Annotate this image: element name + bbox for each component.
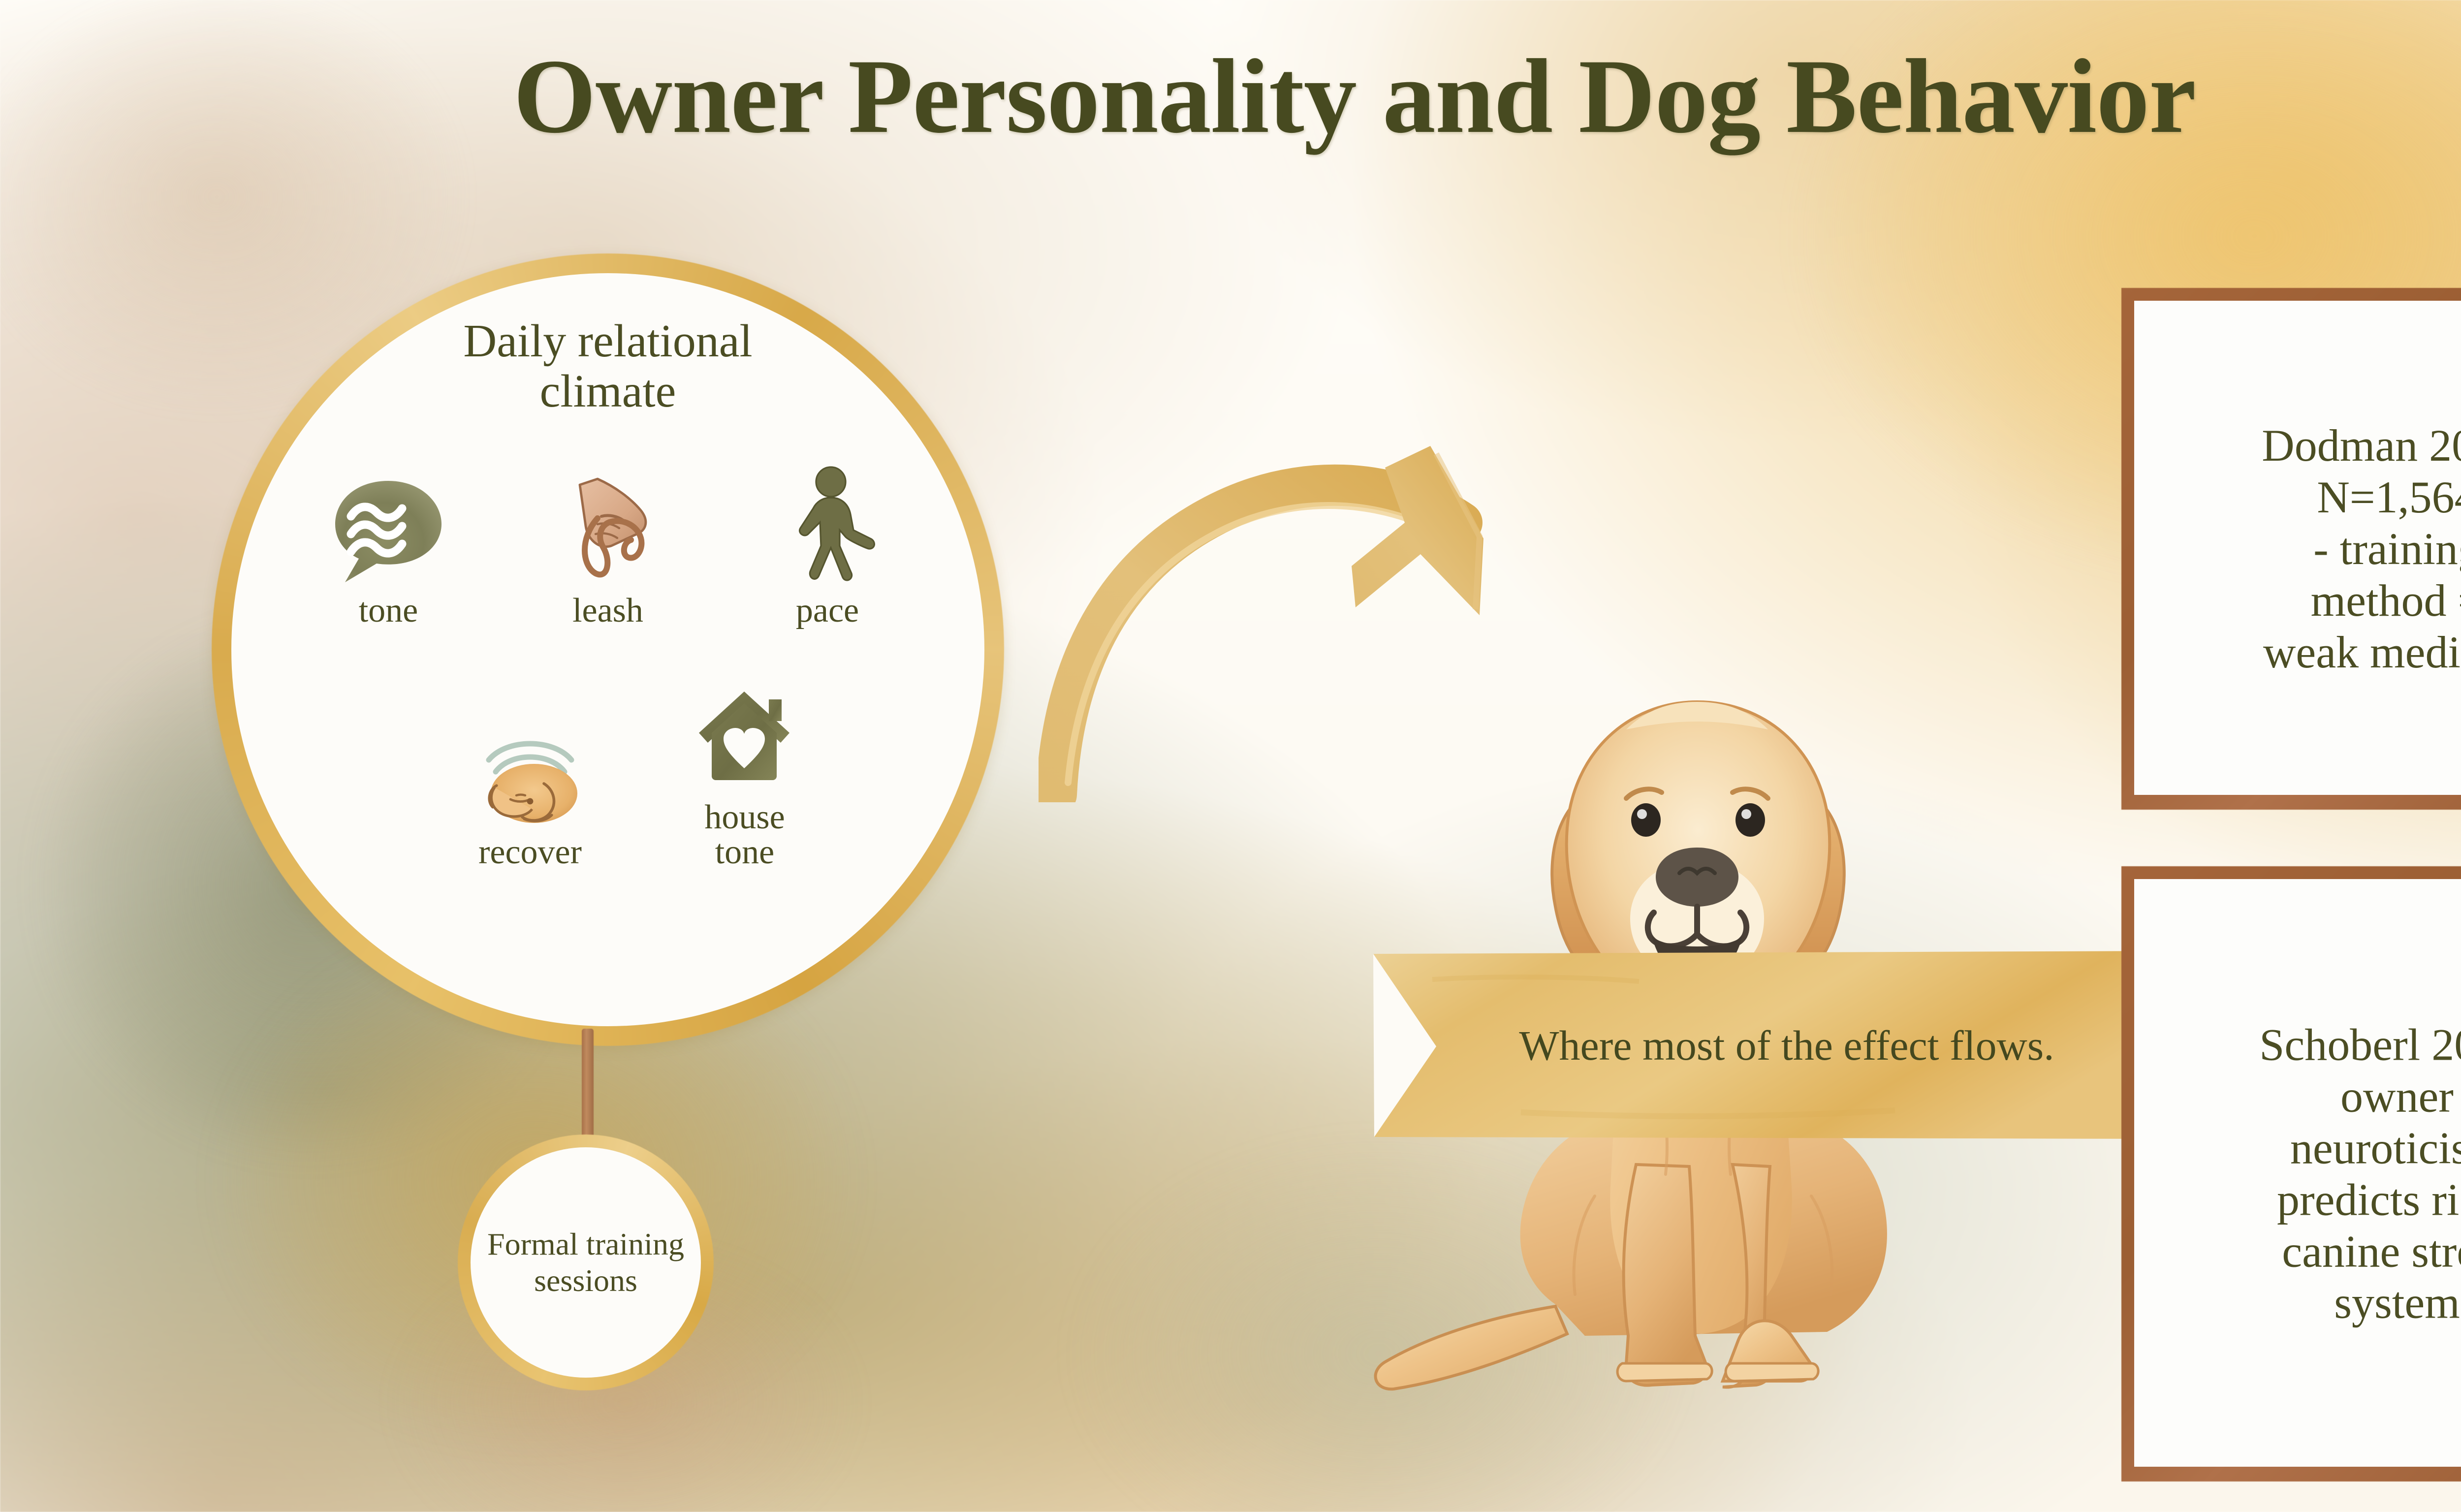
- circle-icon-row-top: tone: [212, 465, 1004, 628]
- note-line: canine stress: [2133, 1226, 2461, 1277]
- infographic-canvas: Owner Personality and Dog Behavior Daily…: [0, 0, 2461, 1512]
- walking-person-icon: [776, 465, 879, 588]
- note-card-schoberl: Schoberl 2017: owner neuroticism predict…: [2121, 866, 2461, 1481]
- icon-cell-house-tone: house tone: [673, 672, 816, 870]
- note-card-dodman: Dodman 2018: N=1,564 - training method =…: [2121, 288, 2461, 810]
- icon-cell-pace: pace: [754, 465, 901, 628]
- house-with-heart-icon: [688, 672, 801, 795]
- note-line: predicts rigid: [2133, 1174, 2461, 1226]
- icon-label-pace: pace: [796, 593, 859, 628]
- icon-label-tone: tone: [359, 593, 418, 628]
- circle-heading: Daily relational climate: [441, 316, 775, 416]
- note-card-dodman-text: Dodman 2018: N=1,564 - training method =…: [2133, 420, 2461, 678]
- note-line: Dodman 2018:: [2133, 420, 2461, 472]
- note-line: Schoberl 2017:: [2133, 1019, 2461, 1071]
- daily-relational-climate-circle: Daily relational climate: [212, 253, 1004, 1046]
- icon-cell-tone: tone: [315, 465, 462, 628]
- note-line: - training: [2133, 523, 2461, 575]
- icon-label-leash: leash: [572, 593, 643, 628]
- icon-cell-leash: leash: [534, 465, 682, 628]
- banner-text: Where most of the effect flows.: [1432, 1021, 2141, 1071]
- note-line: system: [2133, 1277, 2461, 1329]
- formal-training-sessions-circle: Formal training sessions: [458, 1134, 714, 1390]
- circle-connector-stem: [582, 1029, 594, 1149]
- page-title: Owner Personality and Dog Behavior: [0, 43, 2461, 150]
- effect-flow-banner: Where most of the effect flows.: [1373, 950, 2176, 1142]
- speech-bubble-waves-icon: [329, 465, 447, 588]
- note-line: N=1,564: [2133, 472, 2461, 523]
- note-line: method =: [2133, 574, 2461, 626]
- icon-label-house-tone: house tone: [673, 800, 816, 870]
- note-line: owner: [2133, 1071, 2461, 1122]
- icon-label-recover: recover: [478, 835, 582, 870]
- small-circle-label: Formal training sessions: [458, 1226, 714, 1299]
- note-line: neuroticism: [2133, 1122, 2461, 1174]
- icon-cell-recover: recover: [459, 707, 601, 870]
- note-card-schoberl-text: Schoberl 2017: owner neuroticism predict…: [2133, 1019, 2461, 1328]
- hand-holding-leash-icon: [546, 465, 669, 588]
- note-line: weak mediator: [2133, 626, 2461, 678]
- circle-icon-row-bottom: recover: [212, 672, 1004, 870]
- sleeping-dog-icon: [461, 707, 599, 830]
